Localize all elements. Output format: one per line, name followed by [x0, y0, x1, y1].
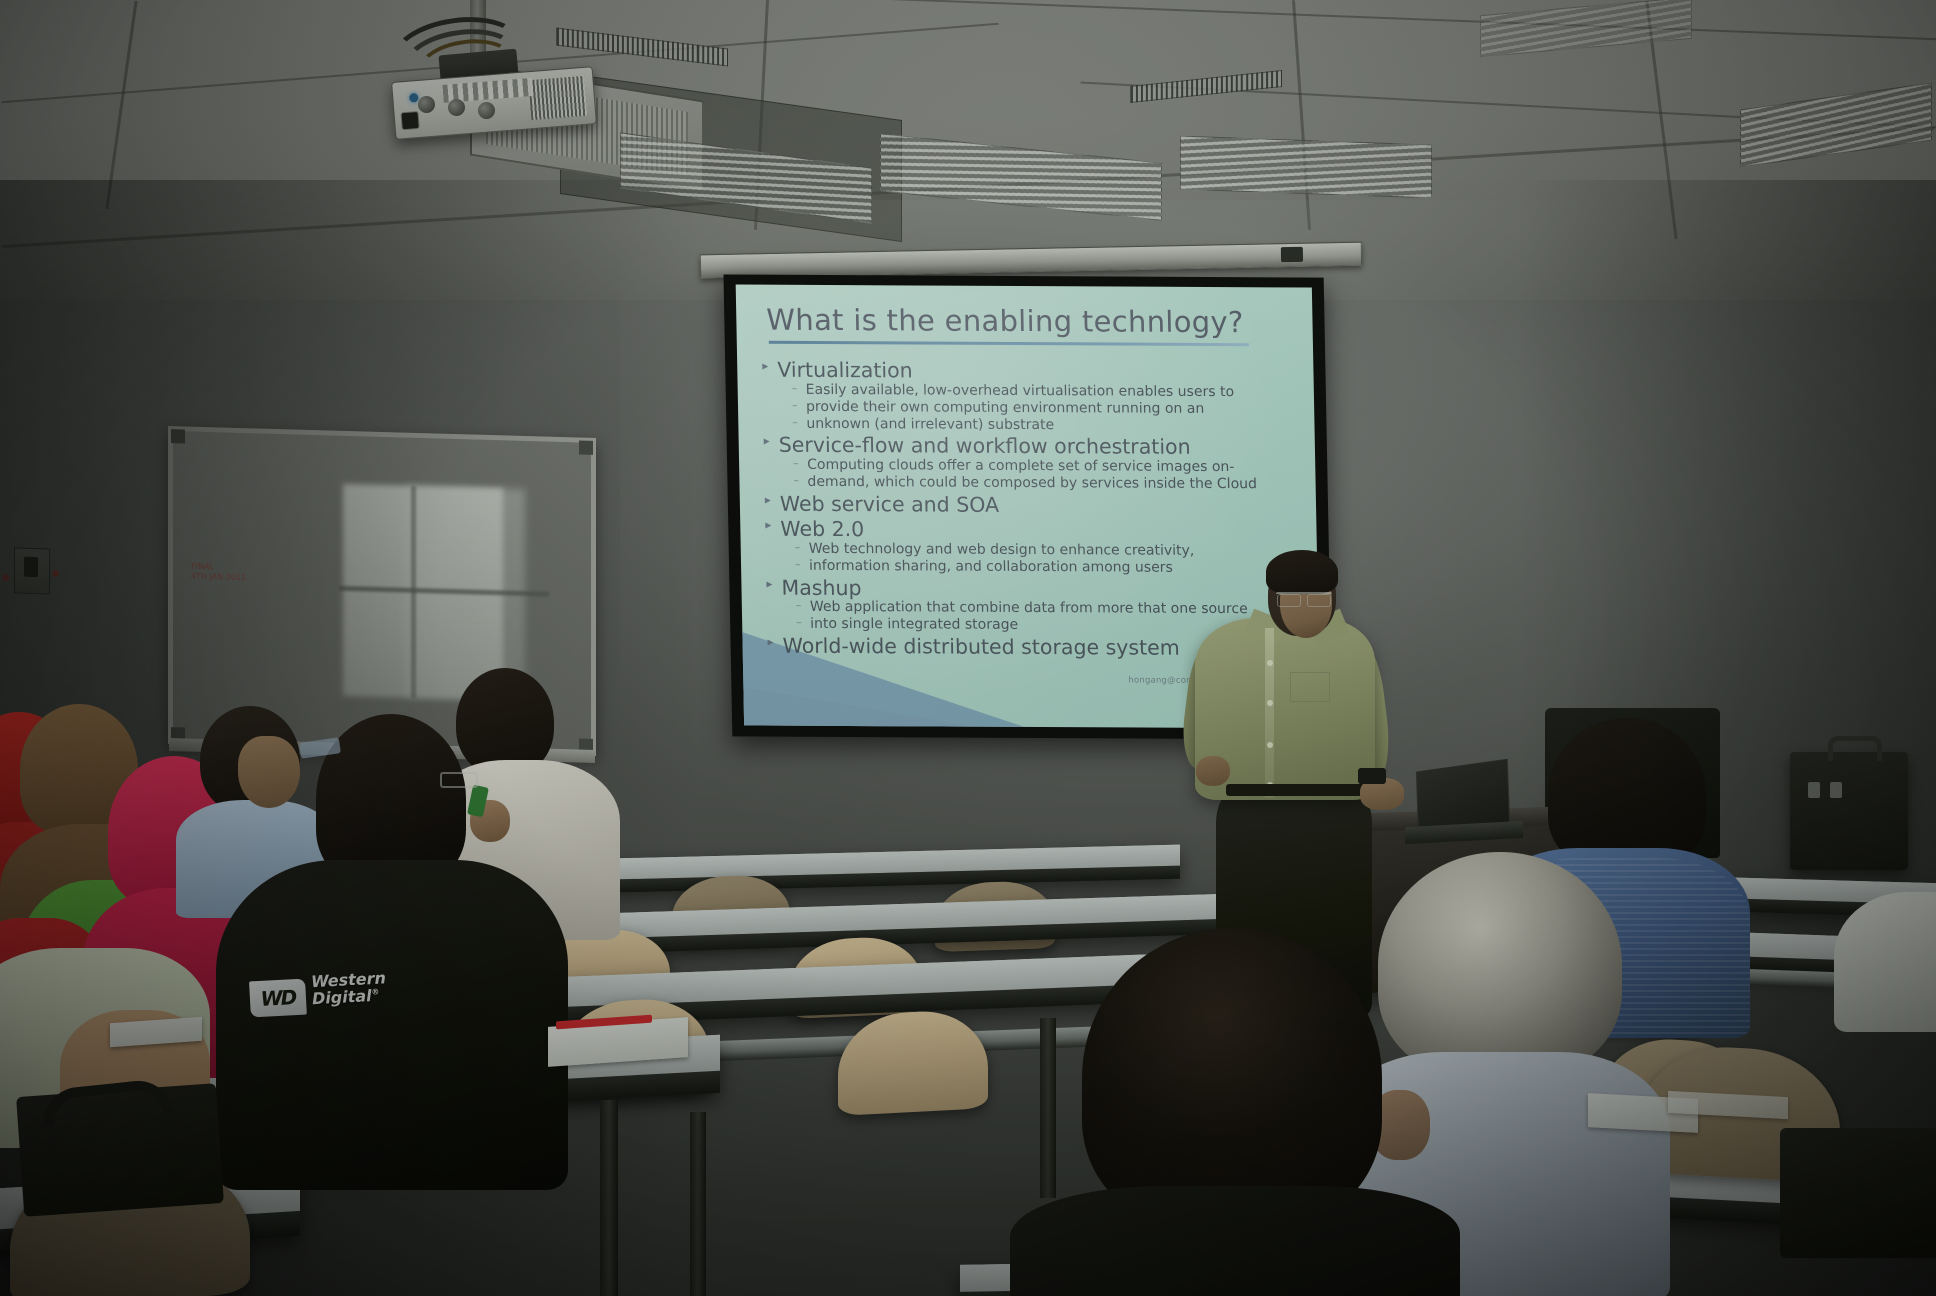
window-mullion [411, 486, 416, 698]
presenter-hair [1266, 550, 1338, 594]
projector-jack [478, 102, 495, 119]
slide-bullet-list: Virtualization Easily available, low-ove… [763, 357, 1303, 661]
bag [1780, 1128, 1936, 1258]
screen-pull-knob[interactable] [1281, 247, 1303, 262]
projector-vent [528, 76, 587, 120]
glasses-icon [1276, 592, 1332, 605]
presenter-belt [1226, 784, 1366, 796]
briefcase-handle [1828, 736, 1882, 761]
ceiling-light-grille [1180, 136, 1432, 199]
wd-logo: WD Western Digital® [249, 969, 384, 1028]
wristwatch-icon [1358, 768, 1386, 784]
slide-bullet-level1: Service-flow and workflow orchestration [779, 434, 1300, 460]
slide-bullet-level1: Mashup [781, 576, 1302, 602]
wall-marking [2, 574, 9, 581]
projector-jack [448, 99, 465, 116]
light-switch[interactable] [24, 557, 38, 577]
wall-switch-plate[interactable] [14, 547, 50, 594]
projector-power-led [409, 93, 419, 103]
slide-title: What is the enabling technlogy? [766, 303, 1289, 340]
glasses-icon [440, 772, 478, 788]
slide-bullet-level2-cont: information sharing, and collaboration a… [809, 559, 1301, 577]
slide-bullet-level2-cont: unknown (and irrelevant) substrate [806, 416, 1298, 434]
black-briefcase [1790, 752, 1908, 870]
slide-bullet-level2-cont: demand, which could be composed by servi… [807, 475, 1299, 493]
presenter-shirt-placket [1265, 628, 1274, 798]
slide-bullet-level1: Web service and SOA [780, 493, 1301, 519]
wall-marking [52, 570, 59, 577]
slide-title-rule [769, 341, 1249, 347]
air-vent [1130, 70, 1282, 103]
presenter-left-hand [1196, 756, 1230, 786]
wd-mark-icon: WD [249, 979, 307, 1018]
presenter-shirt-pocket [1290, 672, 1330, 702]
air-vent [556, 27, 728, 66]
slide-bullet-level1: Virtualization [777, 359, 1298, 385]
whiteboard-red-note: FINAL 4TH JAN 2011 [191, 562, 246, 584]
classroom-photo: What is the enabling technlogy? Virtuali… [0, 0, 1936, 1296]
ceiling-light-grille [1480, 0, 1692, 57]
wd-wordmark: Western Digital® [311, 970, 387, 1007]
projector-jack [418, 96, 435, 113]
slide-bullet-level1: Web 2.0 [780, 518, 1301, 544]
ceiling-light-grille [880, 133, 1162, 221]
projector-lens [400, 111, 419, 130]
ceiling-light-grille [1740, 83, 1932, 168]
